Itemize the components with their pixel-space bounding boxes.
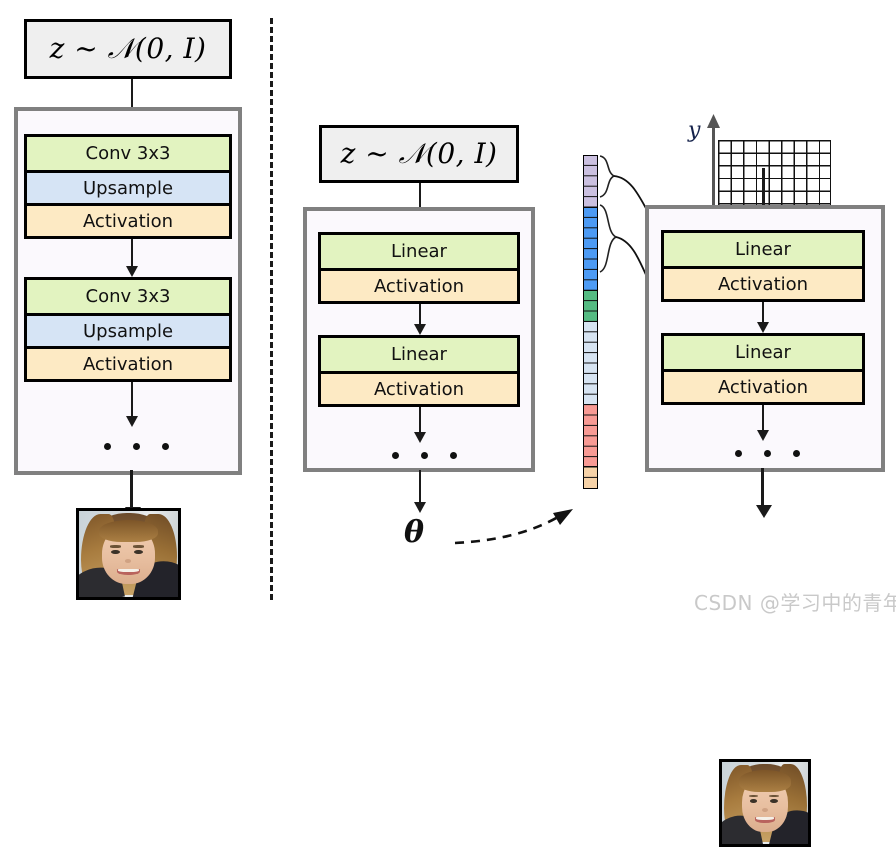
plot-y-axis-arrowhead	[706, 114, 722, 130]
right-output-face-image	[719, 759, 811, 847]
left-output-face-image	[76, 508, 181, 600]
theta-symbol: θ	[404, 515, 424, 550]
left-block-2-activation: Activation	[27, 346, 229, 379]
middle-block-1: Linear Activation	[318, 232, 520, 304]
left-latent-box: z ~ 𝒩(0, I)	[24, 19, 232, 79]
left-block-1-conv: Conv 3x3	[27, 137, 229, 170]
right-block-2-activation: Activation	[664, 369, 862, 402]
left-block-2: Conv 3x3 Upsample Activation	[24, 277, 232, 382]
left-arrow-block1-to-block2	[126, 239, 138, 277]
left-arrow-block2-to-dots	[126, 382, 138, 427]
theta-to-strip-dashed-arrow	[440, 495, 590, 565]
right-arrow-block2-to-dots	[757, 405, 769, 441]
left-block-2-upsample: Upsample	[27, 313, 229, 346]
left-block-1: Conv 3x3 Upsample Activation	[24, 134, 232, 239]
left-block-2-conv: Conv 3x3	[27, 280, 229, 313]
middle-block-1-linear: Linear	[321, 235, 517, 268]
right-block-2: Linear Activation	[661, 333, 865, 405]
watermark-text: CSDN @学习中的青年	[694, 587, 896, 616]
right-block-2-linear: Linear	[664, 336, 862, 369]
middle-latent-box: z ~ 𝒩(0, I)	[319, 125, 519, 183]
right-block-1-activation: Activation	[664, 266, 862, 299]
right-arrow-net-to-image	[756, 468, 772, 518]
left-ellipsis	[104, 443, 169, 450]
right-arrow-block1-to-block2	[757, 302, 769, 333]
left-latent-label: z ~ 𝒩(0, I)	[50, 32, 207, 66]
middle-block-2: Linear Activation	[318, 335, 520, 407]
left-block-1-upsample: Upsample	[27, 170, 229, 203]
left-block-1-activation: Activation	[27, 203, 229, 236]
middle-latent-label: z ~ 𝒩(0, I)	[341, 137, 498, 171]
middle-block-1-activation: Activation	[321, 268, 517, 301]
middle-arrow-block1-to-block2	[414, 304, 426, 335]
right-ellipsis	[735, 450, 800, 457]
middle-block-2-linear: Linear	[321, 338, 517, 371]
middle-arrow-net-to-theta	[414, 470, 426, 513]
middle-block-2-activation: Activation	[321, 371, 517, 404]
right-block-1: Linear Activation	[661, 230, 865, 302]
right-block-1-linear: Linear	[664, 233, 862, 266]
plot-y-label: y	[688, 118, 700, 143]
middle-arrow-block2-to-dots	[414, 407, 426, 443]
panel-divider	[270, 18, 273, 600]
middle-ellipsis	[392, 452, 457, 459]
